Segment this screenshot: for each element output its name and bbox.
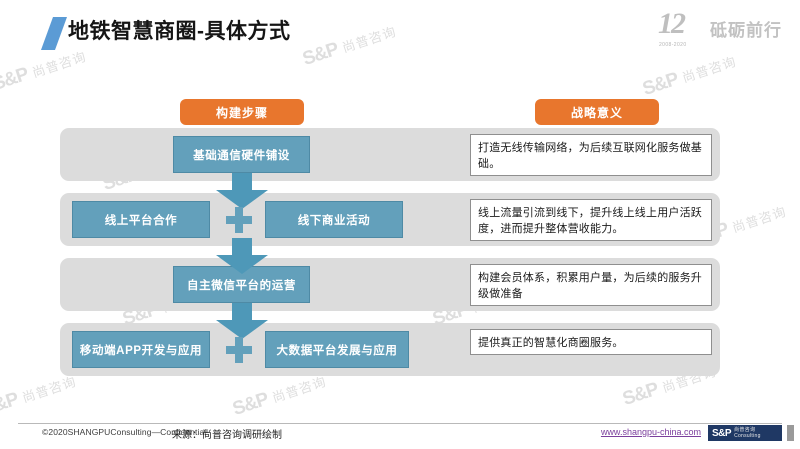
watermark-sp: S&P (560, 0, 601, 3)
step-box[interactable]: 移动端APP开发与应用 (72, 331, 210, 368)
page-title: 地铁智慧商圈-具体方式 (68, 15, 291, 49)
anniversary-slogan: 砥砺前行 (710, 16, 782, 41)
column-header-steps: 构建步骤 (180, 99, 304, 125)
step-box[interactable]: 基础通信硬件铺设 (173, 136, 310, 173)
watermark-sp: S&P (0, 64, 31, 96)
watermark: S&P 尚普咨询 (230, 370, 329, 421)
step-box[interactable]: 线上平台合作 (72, 201, 210, 238)
anniversary-number: 12 (658, 9, 704, 39)
watermark-sp: S&P (0, 389, 21, 421)
meaning-note: 提供真正的智慧化商圈服务。 (470, 329, 712, 355)
arrow-down-icon (216, 303, 268, 339)
meaning-note: 线上流量引流到线下，提升线上线上用户活跃度，进而提升整体营收能力。 (470, 199, 712, 241)
step-box[interactable]: 线下商业活动 (265, 201, 403, 238)
slide-canvas: S&P 尚普咨询 S&P 尚普咨询 S&P 尚普咨询 S&P 尚普咨询 S&P … (0, 0, 800, 449)
footer-logo: S&P 尚普咨询 Consulting (708, 425, 782, 441)
meaning-note: 打造无线传输网络，为后续互联网化服务做基础。 (470, 134, 712, 176)
meaning-note: 构建会员体系，积累用户量，为后续的服务升级做准备 (470, 264, 712, 306)
watermark: S&P 尚普咨询 (640, 50, 739, 101)
watermark-cn: 尚普咨询 (679, 51, 738, 86)
watermark: S&P 尚普咨询 (560, 0, 659, 3)
footer-logo-consulting: Consulting (734, 433, 761, 439)
watermark-cn: 尚普咨询 (19, 371, 78, 406)
plus-icon (226, 337, 252, 363)
footer-divider (18, 423, 782, 424)
title-accent-slash-icon (41, 17, 67, 50)
anniversary-years: 2008-2020 (659, 42, 687, 48)
footer-logo-sp: S&P (712, 428, 731, 439)
step-box[interactable]: 大数据平台发展与应用 (265, 331, 409, 368)
column-header-meaning: 战略意义 (535, 99, 659, 125)
footer-source: 来源：尚普咨询调研绘制 (172, 426, 282, 441)
footer-edge-tab (787, 425, 794, 441)
watermark-sp: S&P (230, 389, 271, 421)
watermark-sp: S&P (620, 379, 661, 411)
arrow-down-icon (216, 238, 268, 274)
anniversary-number-badge: 12 2008-2020 (658, 9, 704, 47)
footer-logo-text: 尚普咨询 Consulting (734, 427, 761, 439)
footer-website-link[interactable]: www.shangpu-china.com (601, 427, 701, 437)
watermark-cn: 尚普咨询 (729, 201, 788, 236)
plus-icon (226, 207, 252, 233)
arrow-down-icon (216, 173, 268, 209)
anniversary-logo: 12 2008-2020 砥砺前行 (658, 9, 782, 47)
watermark-cn: 尚普咨询 (269, 371, 328, 406)
watermark-sp: S&P (640, 69, 681, 101)
watermark: S&P 尚普咨询 (0, 370, 79, 421)
